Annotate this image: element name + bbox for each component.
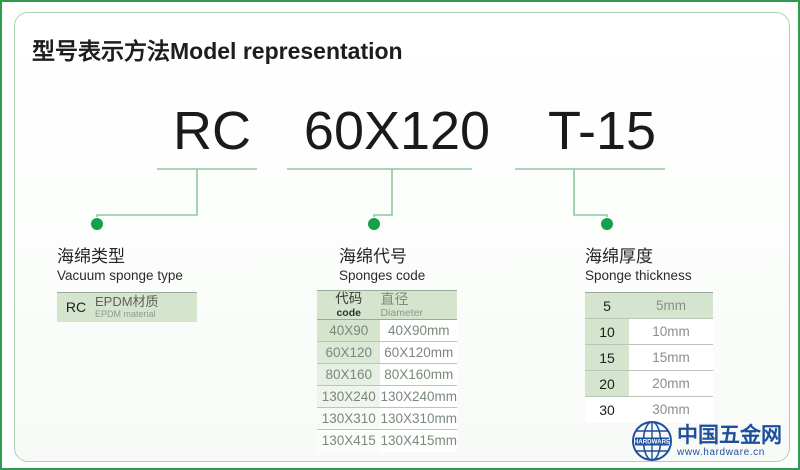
- sponges-code-cell-diameter: 130X310mm: [380, 408, 457, 430]
- section-caption-sponges-code: 海绵代号 Sponges code: [339, 246, 425, 285]
- sponges-code-header-code: 代码 code: [317, 291, 380, 320]
- section-title-cn-sponges-code: 海绵代号: [339, 246, 425, 267]
- sponges-code-cell-diameter: 80X160mm: [380, 364, 457, 386]
- table-row: RC EPDM材质 EPDM material: [57, 293, 197, 322]
- table-sponge-type: RC EPDM材质 EPDM material: [57, 292, 197, 322]
- sponges-code-cell-diameter: 130X415mm: [380, 430, 457, 452]
- table-row: 60X120 60X120mm: [317, 342, 457, 364]
- thickness-cell-code: 15: [585, 345, 629, 371]
- sponges-code-cell-code: 130X415: [317, 430, 380, 452]
- sponge-type-desc: EPDM材质 EPDM material: [95, 293, 197, 322]
- section-title-cn-sponge-thickness: 海绵厚度: [585, 246, 692, 267]
- sponges-code-header-code-cn: 代码: [317, 291, 380, 307]
- table-row: 130X310 130X310mm: [317, 408, 457, 430]
- model-part-type: RC: [152, 104, 272, 158]
- sponge-type-code: RC: [57, 293, 95, 322]
- sponges-code-cell-code: 130X310: [317, 408, 380, 430]
- table-sponge-thickness: 5 5mm 10 10mm 15 15mm 20 20mm 30 30mm: [585, 292, 713, 423]
- thickness-cell-value: 15mm: [629, 345, 713, 371]
- thickness-cell-value: 20mm: [629, 371, 713, 397]
- sponges-code-cell-code: 60X120: [317, 342, 380, 364]
- table-row: 130X415 130X415mm: [317, 430, 457, 452]
- thickness-cell-code: 10: [585, 319, 629, 345]
- thickness-cell-code: 5: [585, 293, 629, 319]
- sponges-code-cell-code: 40X90: [317, 320, 380, 342]
- sponges-code-cell-diameter: 40X90mm: [380, 320, 457, 342]
- section-title-en-sponges-code: Sponges code: [339, 267, 425, 285]
- model-representation-diagram: 型号表示方法Model representation RC 60X120 T-1…: [0, 0, 800, 470]
- thickness-cell-value: 5mm: [629, 293, 713, 319]
- sponges-code-header-diameter-cn: 直径: [380, 291, 457, 307]
- table-row: 20 20mm: [585, 371, 713, 397]
- sponges-code-header-diameter-en: Diameter: [380, 307, 457, 319]
- watermark-text: 中国五金网 www.hardware.cn: [677, 425, 782, 458]
- section-caption-sponge-thickness: 海绵厚度 Sponge thickness: [585, 246, 692, 285]
- sponges-code-cell-code: 130X240: [317, 386, 380, 408]
- model-part-code: 60X120: [272, 104, 522, 158]
- watermark-url: www.hardware.cn: [677, 448, 782, 458]
- sponges-code-header-diameter: 直径 Diameter: [380, 291, 457, 320]
- table-row: 5 5mm: [585, 293, 713, 319]
- section-caption-sponge-type: 海绵类型 Vacuum sponge type: [57, 246, 183, 285]
- thickness-cell-code: 30: [585, 397, 629, 423]
- model-part-thickness: T-15: [522, 104, 682, 158]
- section-title-en-sponge-thickness: Sponge thickness: [585, 267, 692, 285]
- table-row: 80X160 80X160mm: [317, 364, 457, 386]
- globe-icon: HARDWARE: [630, 419, 674, 463]
- sponges-code-header-code-en: code: [317, 307, 380, 319]
- sponge-type-desc-cn: EPDM材质: [95, 295, 197, 309]
- watermark-brand: 中国五金网: [677, 425, 782, 446]
- globe-icon-label: HARDWARE: [634, 439, 670, 446]
- table-sponges-code: 代码 code 直径 Diameter 40X90 40X90mm 60X120…: [317, 290, 457, 452]
- sponge-type-desc-en: EPDM material: [95, 309, 197, 320]
- table-row: 15 15mm: [585, 345, 713, 371]
- section-title-cn-sponge-type: 海绵类型: [57, 246, 183, 267]
- sponges-code-cell-code: 80X160: [317, 364, 380, 386]
- watermark: HARDWARE 中国五金网 www.hardware.cn: [630, 417, 794, 465]
- table-header-row: 代码 code 直径 Diameter: [317, 291, 457, 320]
- thickness-cell-value: 10mm: [629, 319, 713, 345]
- page-title: 型号表示方法Model representation: [32, 32, 403, 66]
- table-row: 10 10mm: [585, 319, 713, 345]
- sponges-code-cell-diameter: 130X240mm: [380, 386, 457, 408]
- table-row: 40X90 40X90mm: [317, 320, 457, 342]
- model-number-row: RC 60X120 T-15: [152, 100, 682, 162]
- section-title-en-sponge-type: Vacuum sponge type: [57, 267, 183, 285]
- sponges-code-cell-diameter: 60X120mm: [380, 342, 457, 364]
- table-row: 130X240 130X240mm: [317, 386, 457, 408]
- thickness-cell-code: 20: [585, 371, 629, 397]
